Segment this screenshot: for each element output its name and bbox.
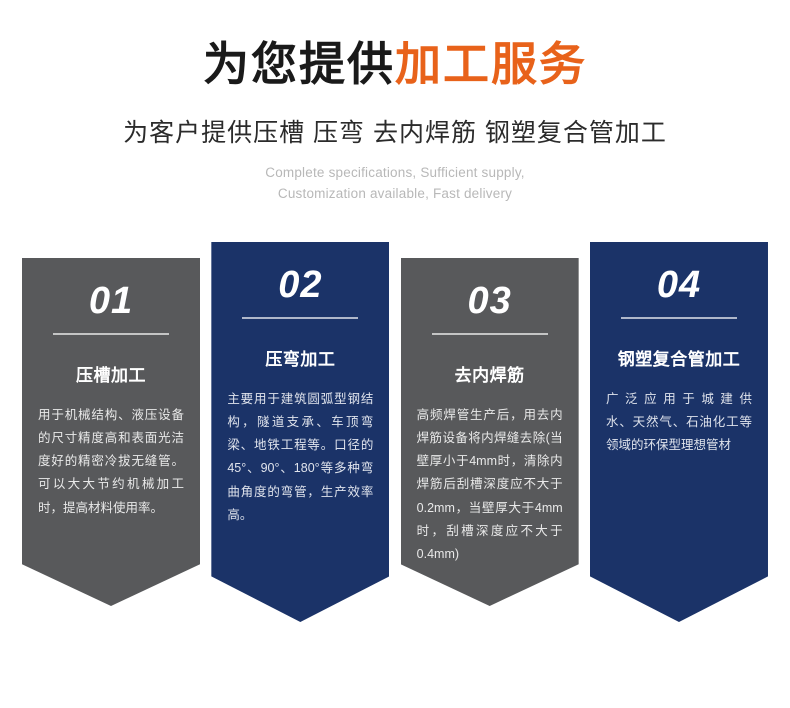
promo-page: 为您提供加工服务 为客户提供压槽 压弯 去内焊筋 钢塑复合管加工 Complet…	[0, 0, 790, 708]
service-card-03-shape: 03 去内焊筋 高频焊管生产后，用去内焊筋设备将内焊缝去除(当壁厚小于4mm时，…	[401, 258, 579, 606]
service-card-01-number: 01	[22, 258, 200, 323]
service-card-03-divider	[432, 333, 548, 335]
page-subtitle: 为客户提供压槽 压弯 去内焊筋 钢塑复合管加工	[0, 113, 790, 149]
service-card-01-text: 用于机械结构、液压设备的尺寸精度高和表面光洁度好的精密冷拔无缝管。可以大大节约机…	[38, 404, 184, 520]
english-tagline-line2: Customization available, Fast delivery	[0, 184, 790, 205]
page-title-accent: 加工服务	[395, 38, 587, 90]
service-card-02-shape: 02 压弯加工 主要用于建筑圆弧型钢结构，隧道支承、车顶弯梁、地铁工程等。口径的…	[211, 242, 389, 622]
service-card-01: 01 压槽加工 用于机械结构、液压设备的尺寸精度高和表面光洁度好的精密冷拔无缝管…	[22, 258, 200, 622]
page-title-main: 为您提供	[203, 38, 395, 90]
service-card-01-divider	[53, 333, 169, 335]
service-card-04-title: 钢塑复合管加工	[590, 345, 768, 370]
service-card-04-divider	[621, 317, 737, 319]
english-tagline-line1: Complete specifications, Sufficient supp…	[0, 163, 790, 184]
service-card-04-number: 04	[590, 242, 768, 307]
service-card-02-title: 压弯加工	[211, 345, 389, 370]
service-card-02-divider	[242, 317, 358, 319]
english-tagline: Complete specifications, Sufficient supp…	[0, 163, 790, 205]
service-card-04: 04 钢塑复合管加工 广 泛 应 用 于 城 建 供水、天然气、石油化工等领域的…	[590, 242, 768, 622]
service-card-04-shape: 04 钢塑复合管加工 广 泛 应 用 于 城 建 供水、天然气、石油化工等领域的…	[590, 242, 768, 622]
page-header: 为您提供加工服务 为客户提供压槽 压弯 去内焊筋 钢塑复合管加工 Complet…	[0, 0, 790, 205]
service-card-02-number: 02	[211, 242, 389, 307]
service-card-02: 02 压弯加工 主要用于建筑圆弧型钢结构，隧道支承、车顶弯梁、地铁工程等。口径的…	[211, 242, 389, 622]
service-card-01-title: 压槽加工	[22, 361, 200, 386]
page-title: 为您提供加工服务	[0, 38, 790, 91]
service-card-list: 01 压槽加工 用于机械结构、液压设备的尺寸精度高和表面光洁度好的精密冷拔无缝管…	[22, 258, 768, 622]
service-card-04-text: 广 泛 应 用 于 城 建 供水、天然气、石油化工等领域的环保型理想管材	[606, 388, 752, 457]
service-card-02-text: 主要用于建筑圆弧型钢结构，隧道支承、车顶弯梁、地铁工程等。口径的 45°、90°…	[227, 388, 373, 527]
service-card-03-number: 03	[401, 258, 579, 323]
service-card-03-title: 去内焊筋	[401, 361, 579, 386]
service-card-03: 03 去内焊筋 高频焊管生产后，用去内焊筋设备将内焊缝去除(当壁厚小于4mm时，…	[401, 258, 579, 622]
service-card-03-text: 高频焊管生产后，用去内焊筋设备将内焊缝去除(当壁厚小于4mm时，清除内焊筋后刮槽…	[417, 404, 563, 566]
service-card-01-shape: 01 压槽加工 用于机械结构、液压设备的尺寸精度高和表面光洁度好的精密冷拔无缝管…	[22, 258, 200, 606]
